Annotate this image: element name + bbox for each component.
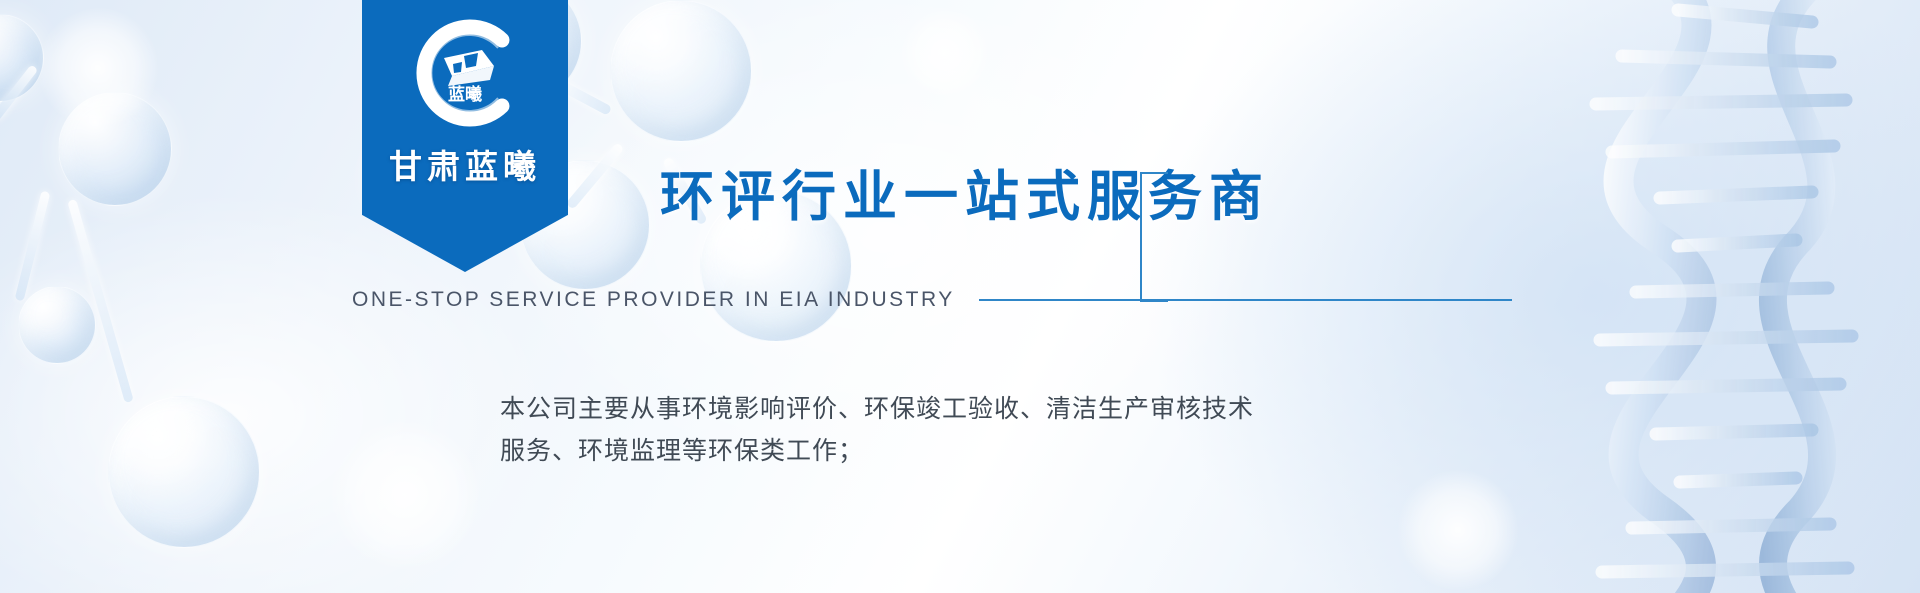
page-title: 环评行业一站式服务商 — [660, 152, 1270, 231]
bokeh-glow — [38, 8, 158, 128]
body-copy: 本公司主要从事环境影响评价、环保竣工验收、清洁生产审核技术 服务、环境监理等环保… — [500, 388, 1400, 472]
subtitle-row: ONE-STOP SERVICE PROVIDER IN EIA INDUSTR… — [352, 287, 1512, 313]
company-flag: 蓝曦 甘肃蓝曦 — [362, 0, 568, 272]
bokeh-glow — [330, 420, 480, 570]
lanxi-circle-emblem-icon: 蓝曦 — [406, 14, 524, 132]
hero-banner: 蓝曦 甘肃蓝曦 环评行业一站式服务商 ONE-STOP SERVICE PROV… — [0, 0, 1920, 593]
corner-bracket-accent-icon — [1140, 172, 1168, 302]
subtitle-english: ONE-STOP SERVICE PROVIDER IN EIA INDUSTR… — [352, 288, 955, 312]
body-copy-line-1: 本公司主要从事环境影响评价、环保竣工验收、清洁生产审核技术 — [500, 388, 1400, 430]
company-name: 甘肃蓝曦 — [362, 140, 568, 188]
body-copy-line-2: 服务、环境监理等环保类工作； — [500, 430, 1400, 472]
logo-mark-text: 蓝曦 — [448, 84, 482, 105]
horizontal-rule — [979, 299, 1512, 301]
bokeh-glow — [900, 8, 990, 98]
